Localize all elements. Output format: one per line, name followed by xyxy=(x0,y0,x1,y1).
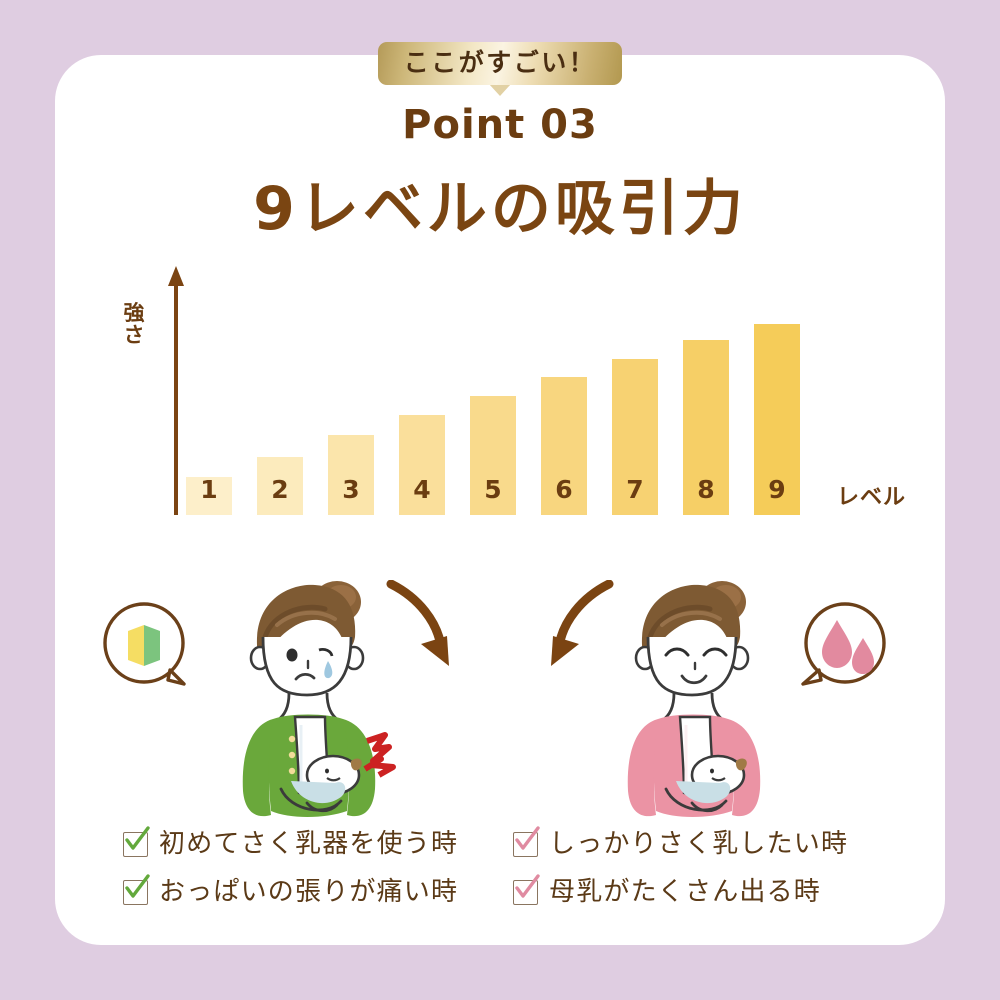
checkbox-pink[interactable] xyxy=(513,880,538,905)
checklist-item[interactable]: 初めてさく乳器を使う時 xyxy=(123,820,458,868)
x-tick-9: 9 xyxy=(754,475,800,504)
x-tick-8: 8 xyxy=(683,475,729,504)
x-tick-6: 6 xyxy=(541,475,587,504)
checklist: 初めてさく乳器を使う時 おっぱいの張りが痛い時 xyxy=(55,820,945,930)
check-icon xyxy=(121,872,152,903)
checkbox-green[interactable] xyxy=(123,880,148,905)
checkbox-pink[interactable] xyxy=(513,832,538,857)
page-title: 9レベルの吸引力 xyxy=(55,160,945,247)
checklist-item[interactable]: しっかりさく乳したい時 xyxy=(513,820,848,868)
y-axis-label: 強さ xyxy=(123,303,145,347)
checkbox-green[interactable] xyxy=(123,832,148,857)
checklist-label: 初めてさく乳器を使う時 xyxy=(159,831,458,857)
checklist-item[interactable]: 母乳がたくさん出る時 xyxy=(513,868,848,916)
check-icon xyxy=(511,824,542,855)
x-axis-label: レベル xyxy=(837,479,906,511)
leaf-mark-green-half xyxy=(144,625,160,666)
check-icon xyxy=(511,872,542,903)
poster-canvas: ここがすごい！ Point 03 9レベルの吸引力 強さ レベル xyxy=(0,0,1000,1000)
badge-container: ここがすごい！ xyxy=(55,42,945,96)
speech-bubble-beginner-mark xyxy=(100,600,192,692)
speech-bubble-milk-droplets xyxy=(797,600,889,692)
x-tick-4: 4 xyxy=(399,475,445,504)
x-tick-1: 1 xyxy=(186,475,232,504)
illustration-smiling-mother xyxy=(600,575,790,820)
badge-ribbon: ここがすごい！ xyxy=(378,42,623,85)
checklist-column-left: 初めてさく乳器を使う時 おっぱいの張りが痛い時 xyxy=(123,820,458,916)
x-tick-7: 7 xyxy=(612,475,658,504)
content-card: ここがすごい！ Point 03 9レベルの吸引力 強さ レベル xyxy=(55,55,945,945)
checklist-column-right: しっかりさく乳したい時 母乳がたくさん出る時 xyxy=(513,820,848,916)
illustration-scene xyxy=(55,525,945,825)
badge-label: ここがすごい！ xyxy=(404,48,597,77)
y-axis xyxy=(168,266,184,515)
checklist-label: しっかりさく乳したい時 xyxy=(549,831,848,857)
x-tick-3: 3 xyxy=(328,475,374,504)
badge-tail-triangle xyxy=(489,84,511,96)
checklist-label: おっぱいの張りが痛い時 xyxy=(159,879,458,905)
checklist-item[interactable]: おっぱいの張りが痛い時 xyxy=(123,868,458,916)
point-title: Point 03 xyxy=(55,102,945,148)
checklist-label: 母乳がたくさん出る時 xyxy=(549,879,821,905)
illustration-crying-mother xyxy=(215,575,405,820)
leaf-mark-yellow-half xyxy=(128,625,144,666)
check-icon xyxy=(121,824,152,855)
x-tick-2: 2 xyxy=(257,475,303,504)
x-tick-5: 5 xyxy=(470,475,516,504)
eye-left xyxy=(287,649,298,662)
suction-level-bar-chart: 強さ レベル 1 2 3 4 5 6 7 xyxy=(55,260,945,515)
